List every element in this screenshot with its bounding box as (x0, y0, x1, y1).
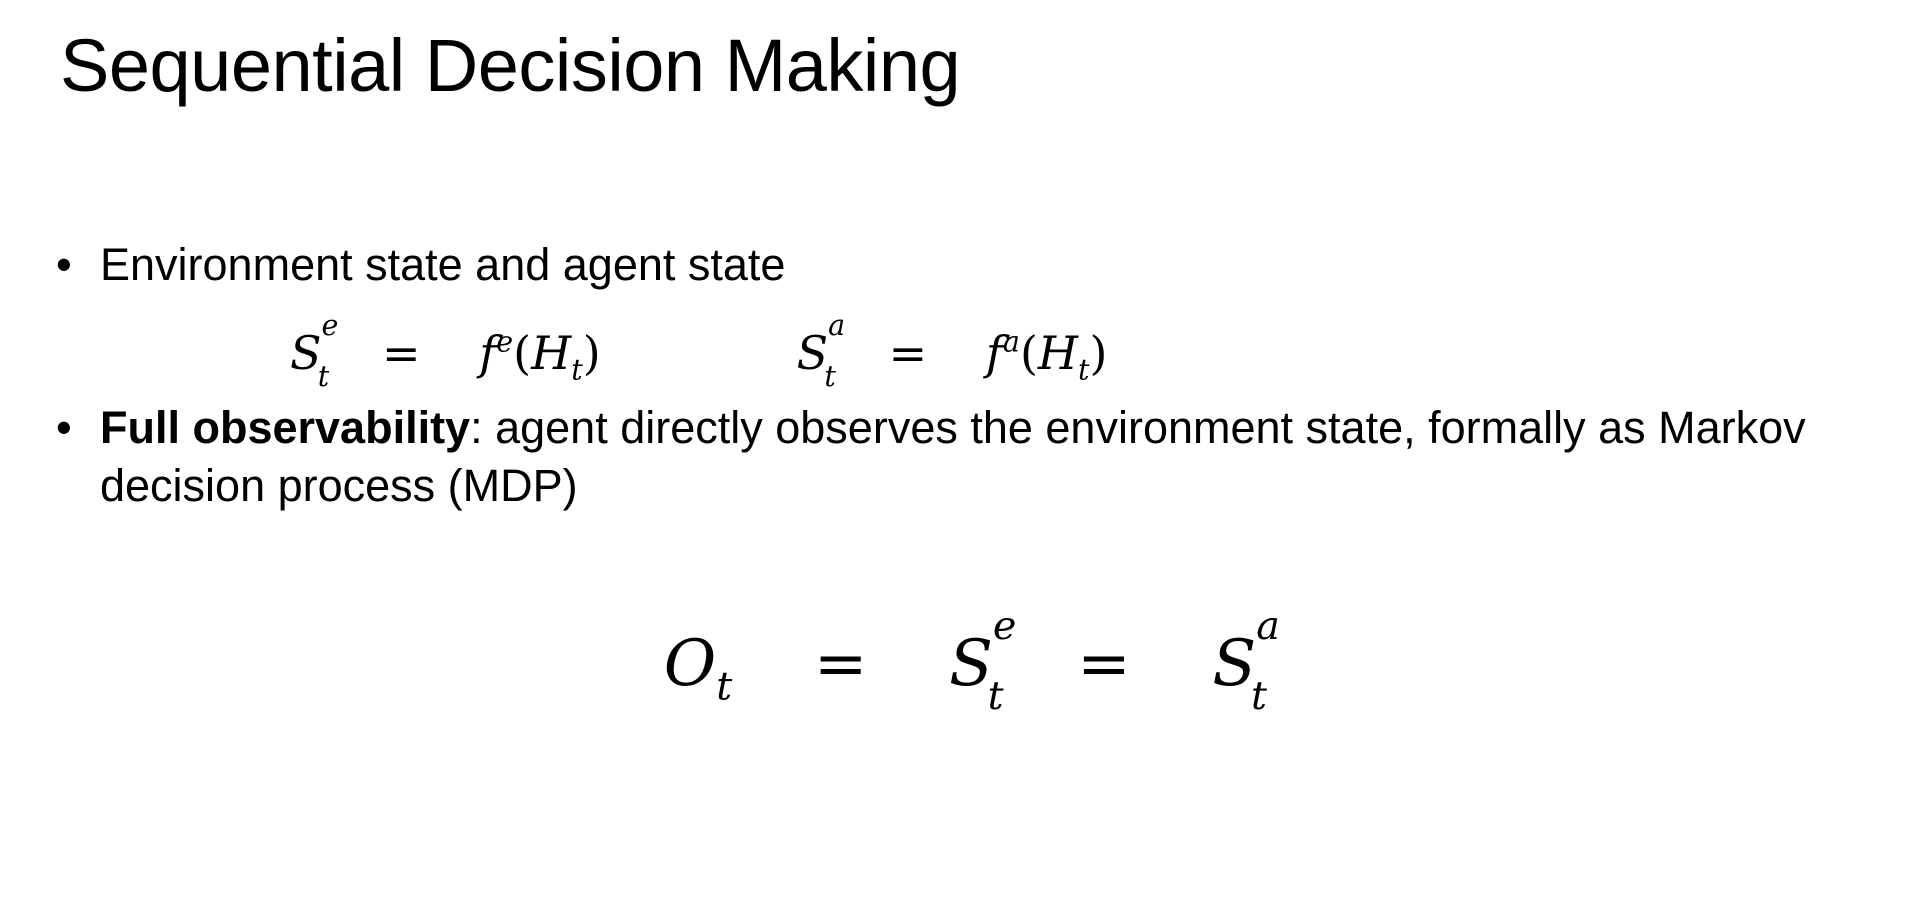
formula-row-state-definitions: Set = fe(Ht) Sat = fa(Ht) (290, 326, 1390, 380)
agent-function-base: f (986, 326, 1003, 380)
formula-row-full-observability: Ot = Set = Sat (0, 627, 1920, 701)
symbol-agent-state: Sat (1212, 627, 1256, 701)
agent-state-superscript: a (828, 312, 845, 341)
env-state-base: S (949, 627, 993, 701)
equals-operator-second: = (1077, 627, 1131, 701)
bullet-marker-icon: • (56, 236, 100, 295)
slide-title: Sequential Decision Making (60, 22, 960, 109)
agent-state-superscript: a (1256, 607, 1280, 647)
env-transition-function-base: f (479, 326, 496, 380)
formula-agent-state: Sat = fa(Ht) (797, 326, 1108, 380)
close-paren: ) (1089, 326, 1107, 380)
history-base: H (531, 326, 571, 380)
agent-state-subscript: t (824, 363, 835, 392)
history-base: H (1038, 326, 1078, 380)
bullet-text-environment-state: Environment state and agent state (100, 236, 1871, 295)
bullet-item-environment-state: • Environment state and agent state (56, 236, 1871, 295)
equals-operator: = (382, 326, 421, 380)
bullet-text-full-observability: Full observability: agent directly obser… (100, 399, 1871, 516)
observation-subscript: t (716, 663, 732, 709)
observation-base: O (664, 627, 716, 701)
bullet-body-text: Environment state and agent state (100, 239, 785, 290)
bullet-marker-icon: • (56, 399, 100, 458)
symbol-environment-state: Set (949, 627, 993, 701)
bullet-emphasis-text: Full observability (100, 402, 470, 453)
equals-operator: = (889, 326, 928, 380)
symbol-agent-state: Sat (797, 326, 829, 380)
env-state-superscript: e (322, 312, 339, 341)
agent-state-base: S (1212, 627, 1256, 701)
env-state-subscript: t (318, 363, 329, 392)
history-subscript: t (571, 353, 582, 386)
history-subscript: t (1078, 353, 1089, 386)
agent-function-superscript: a (1003, 325, 1020, 358)
bullet-item-full-observability: • Full observability: agent directly obs… (56, 399, 1871, 516)
open-paren: ( (1020, 326, 1038, 380)
env-state-superscript: e (993, 607, 1016, 647)
env-state-subscript: t (988, 677, 1004, 717)
slide-canvas: Sequential Decision Making • Environment… (0, 0, 1920, 920)
open-paren: ( (513, 326, 531, 380)
equals-operator-first: = (814, 627, 868, 701)
symbol-environment-state: Set (290, 326, 322, 380)
formula-environment-state: Set = fe(Ht) (290, 326, 601, 380)
formula-full-observability: Ot = Set = Sat (664, 627, 1256, 701)
env-transition-function-superscript: e (496, 325, 513, 358)
agent-state-subscript: t (1251, 677, 1267, 717)
close-paren: ) (583, 326, 601, 380)
